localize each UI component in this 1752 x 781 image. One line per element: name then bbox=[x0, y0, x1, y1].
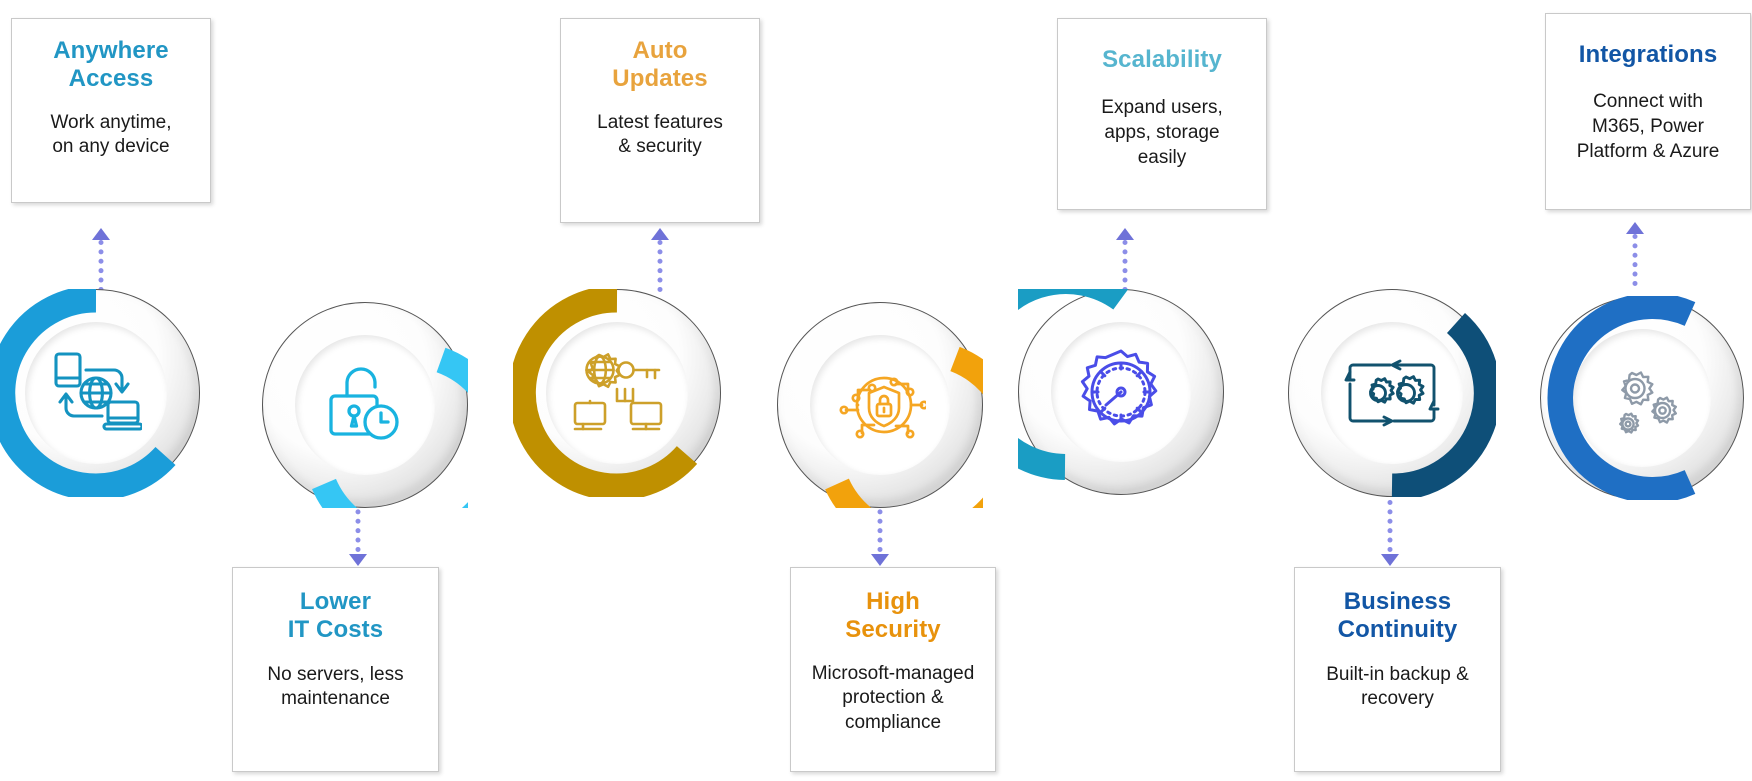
desc-line-3: easily bbox=[1138, 147, 1187, 168]
infographic-canvas: Anywhere Access Work anytime, on any dev… bbox=[0, 0, 1752, 781]
title-line-1: Anywhere bbox=[53, 37, 169, 64]
ring-auto-updates[interactable] bbox=[513, 289, 721, 497]
title-line-1: High bbox=[866, 588, 920, 615]
connector-arrow-down-icon bbox=[349, 554, 367, 566]
gauge-gear-speed-icon bbox=[1077, 348, 1165, 436]
connector-arrow-down-icon bbox=[871, 554, 889, 566]
card-description: Expand users, apps, storage easily bbox=[1101, 96, 1222, 170]
title-line-1: Business bbox=[1344, 588, 1452, 615]
desc-line-3: compliance bbox=[845, 712, 941, 733]
card-title: Auto Updates bbox=[612, 37, 707, 94]
ring-anywhere-access[interactable] bbox=[0, 289, 200, 497]
desc-line-2: recovery bbox=[1361, 688, 1434, 709]
card-anywhere-access[interactable]: Anywhere Access Work anytime, on any dev… bbox=[11, 18, 211, 203]
card-integrations[interactable]: Integrations Connect with M365, Power Pl… bbox=[1545, 13, 1751, 210]
card-description: Microsoft-managed protection & complianc… bbox=[812, 662, 975, 736]
card-title: High Security bbox=[845, 588, 941, 645]
connector-line bbox=[1123, 240, 1128, 292]
desc-line-1: Microsoft-managed bbox=[812, 663, 975, 684]
connector-line bbox=[1388, 500, 1393, 552]
card-title: Lower IT Costs bbox=[288, 588, 383, 645]
card-lower-it-costs[interactable]: Lower IT Costs No servers, less maintena… bbox=[232, 567, 439, 772]
card-description: Work anytime, on any device bbox=[50, 111, 171, 160]
title-line-1: Lower bbox=[300, 588, 371, 615]
desc-line-2: M365, Power bbox=[1592, 116, 1704, 137]
desc-line-1: Work anytime, bbox=[50, 112, 171, 133]
devices-globe-sync-icon bbox=[50, 350, 142, 436]
title-line-2: Updates bbox=[612, 65, 707, 92]
ring-inner-disc bbox=[295, 335, 435, 475]
connector-arrow-up-icon bbox=[92, 228, 110, 240]
connector-line bbox=[99, 240, 104, 292]
desc-line-1: Expand users, bbox=[1101, 97, 1222, 118]
card-business-continuity[interactable]: Business Continuity Built-in backup & re… bbox=[1294, 567, 1501, 772]
card-high-security[interactable]: High Security Microsoft-managed protecti… bbox=[790, 567, 996, 772]
desc-line-2: maintenance bbox=[281, 688, 390, 709]
card-title: Integrations bbox=[1579, 41, 1718, 69]
desc-line-2: & security bbox=[618, 136, 701, 157]
ring-inner-disc bbox=[25, 322, 167, 464]
connector-anywhere-access bbox=[86, 228, 116, 294]
connector-scalability bbox=[1110, 228, 1140, 294]
ring-inner-disc bbox=[1573, 329, 1711, 467]
connector-arrow-up-icon bbox=[1626, 222, 1644, 234]
connector-business-continuity bbox=[1375, 500, 1405, 566]
connector-auto-updates bbox=[645, 228, 675, 294]
card-scalability[interactable]: Scalability Expand users, apps, storage … bbox=[1057, 18, 1267, 210]
title-line-2: Access bbox=[69, 65, 154, 92]
connector-lower-it-costs bbox=[343, 500, 373, 566]
desc-line-3: Platform & Azure bbox=[1577, 141, 1720, 162]
card-description: No servers, less maintenance bbox=[267, 663, 403, 712]
card-title: Scalability bbox=[1102, 46, 1222, 74]
ring-business-continuity[interactable] bbox=[1288, 289, 1496, 497]
ring-high-security[interactable] bbox=[777, 302, 983, 508]
desc-line-1: Connect with bbox=[1593, 91, 1703, 112]
desc-line-2: apps, storage bbox=[1104, 122, 1219, 143]
desc-line-2: protection & bbox=[842, 687, 943, 708]
shield-lock-circuit-icon bbox=[834, 362, 926, 448]
card-description: Built-in backup & recovery bbox=[1326, 663, 1469, 712]
connector-arrow-up-icon bbox=[1116, 228, 1134, 240]
ring-lower-it-costs[interactable] bbox=[262, 302, 468, 508]
connector-integrations bbox=[1620, 222, 1650, 288]
globe-gear-key-network-icon bbox=[569, 351, 665, 435]
card-title: Business Continuity bbox=[1338, 588, 1458, 645]
card-description: Connect with M365, Power Platform & Azur… bbox=[1577, 90, 1720, 164]
ring-inner-disc bbox=[1321, 322, 1463, 464]
ring-integrations[interactable] bbox=[1540, 296, 1744, 500]
desc-line-1: Built-in backup & bbox=[1326, 664, 1469, 685]
desc-line-1: No servers, less bbox=[267, 664, 403, 685]
ring-inner-disc bbox=[1051, 322, 1191, 462]
desc-line-2: on any device bbox=[52, 136, 169, 157]
connector-line bbox=[658, 240, 663, 292]
title-line-1: Auto bbox=[632, 37, 687, 64]
title-line-2: Security bbox=[845, 616, 941, 643]
ring-scalability[interactable] bbox=[1018, 289, 1224, 495]
connector-line bbox=[1633, 234, 1638, 286]
open-padlock-clock-icon bbox=[323, 363, 407, 447]
ring-inner-disc bbox=[810, 335, 950, 475]
title-line-2: Continuity bbox=[1338, 616, 1458, 643]
title-line-1: Integrations bbox=[1579, 41, 1718, 68]
ring-inner-disc bbox=[546, 322, 688, 464]
desc-line-1: Latest features bbox=[597, 112, 723, 133]
gears-settings-icon bbox=[1598, 356, 1686, 440]
connector-high-security bbox=[865, 500, 895, 566]
card-description: Latest features & security bbox=[597, 111, 723, 160]
connector-arrow-down-icon bbox=[1381, 554, 1399, 566]
connector-arrow-up-icon bbox=[651, 228, 669, 240]
gears-cycle-arrows-icon bbox=[1344, 358, 1440, 428]
card-auto-updates[interactable]: Auto Updates Latest features & security bbox=[560, 18, 760, 223]
title-line-2: IT Costs bbox=[288, 616, 383, 643]
title-line-1: Scalability bbox=[1102, 46, 1222, 73]
card-title: Anywhere Access bbox=[53, 37, 169, 94]
